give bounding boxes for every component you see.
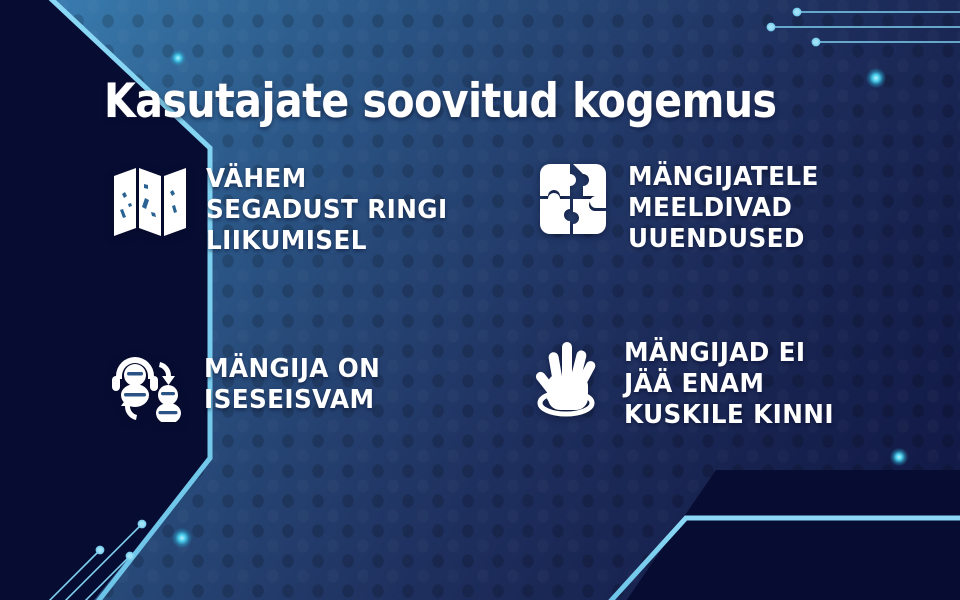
feature-item-label: Mängija on iseseisvam (204, 352, 380, 416)
top-right-circuit-lines (767, 8, 960, 45)
puzzle-pieces-icon (536, 160, 610, 238)
feature-item-label: Mängijatele meeldivad uuendused (628, 160, 819, 255)
feature-item-player-more-independent: Mängija on iseseisvam (110, 352, 389, 422)
feature-item-label: Vähem segadust ringi liikumisel (206, 162, 448, 257)
feature-item-updates-players-like: Mängijatele meeldivad uuendused (536, 160, 829, 255)
glow-dot (890, 448, 908, 466)
glow-dot (866, 68, 886, 88)
slide-canvas: Kasutajate soovitud kogemus Vähem segadu… (0, 0, 960, 600)
glow-dot (172, 528, 192, 548)
folded-map-icon (112, 162, 188, 242)
feature-item-label: Mängijad ei jää enam kuskile kinni (624, 336, 834, 431)
hand-stuck-in-water-icon (526, 336, 606, 422)
feature-item-players-not-stuck: Mängijad ei jää enam kuskile kinni (526, 336, 845, 431)
bottom-right-corner-panel (624, 470, 960, 600)
glow-dot (170, 50, 186, 66)
page-title: Kasutajate soovitud kogemus (104, 74, 776, 130)
support-agent-swap-icon (110, 352, 186, 422)
feature-item-less-confusion: Vähem segadust ringi liikumisel (112, 162, 460, 257)
